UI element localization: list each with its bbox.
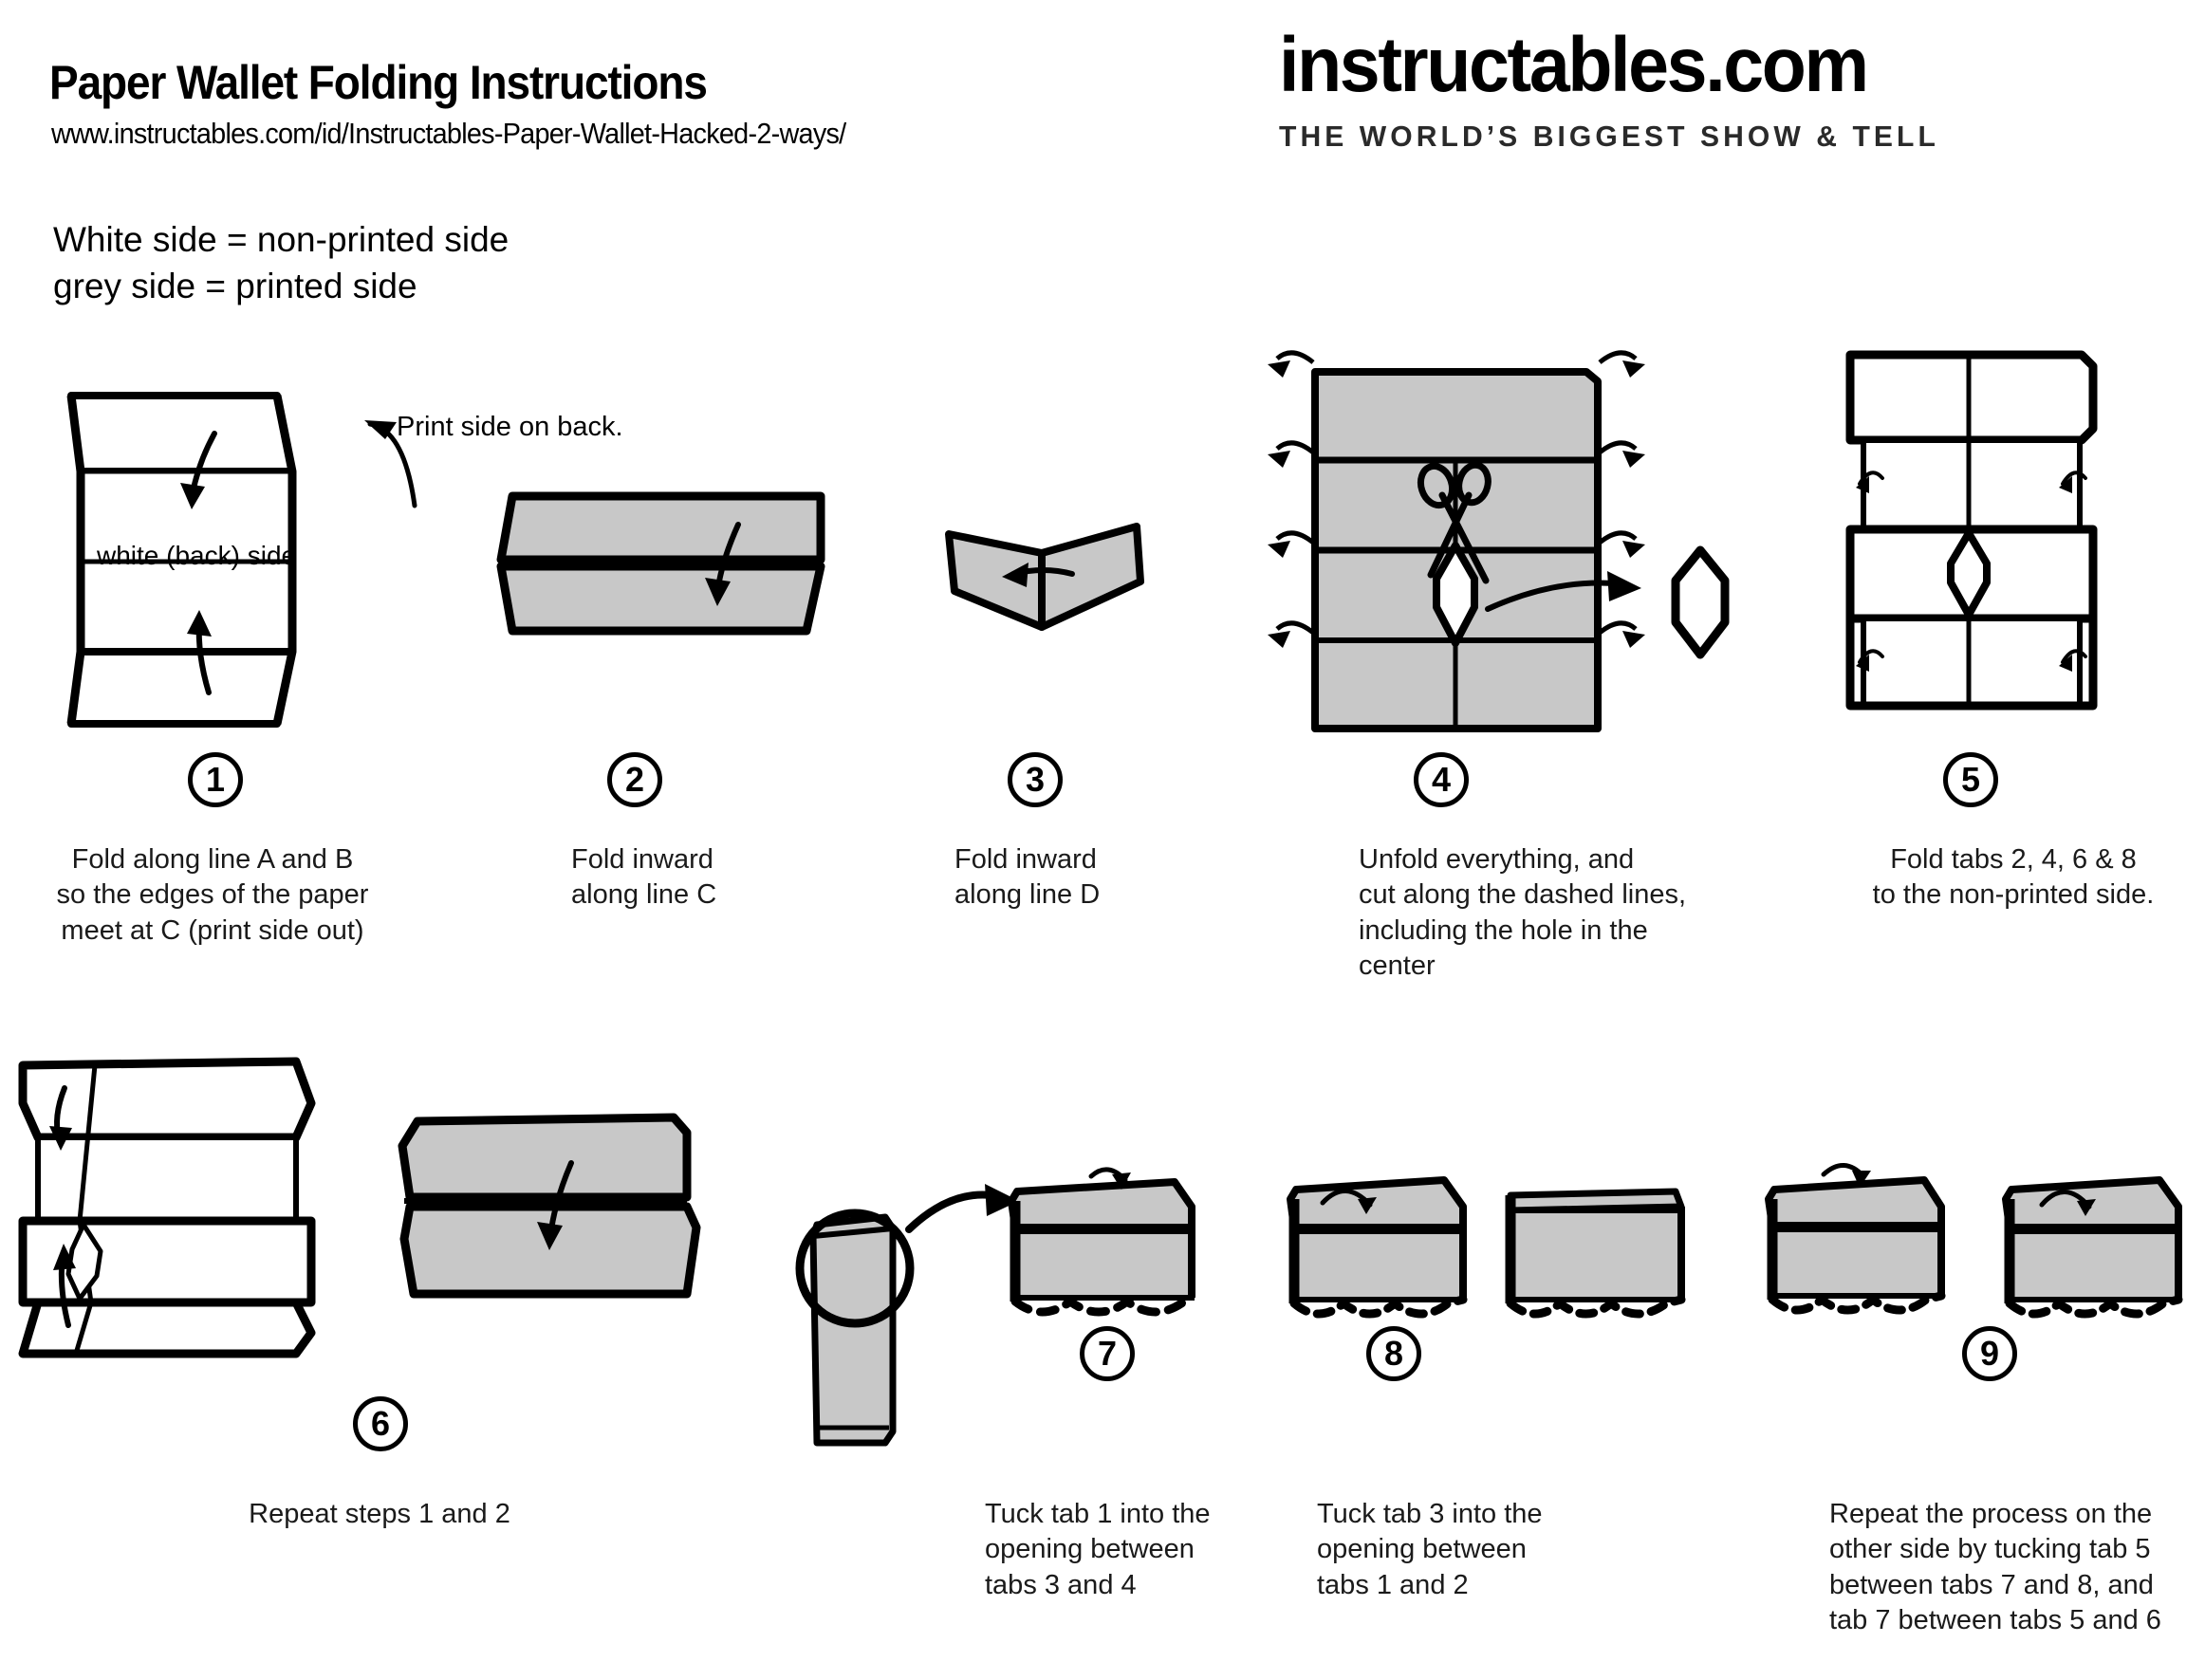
step-8-figure-right [1499,1174,1698,1336]
legend-white-side: White side = non-printed side [53,216,509,263]
step-1-caption: Fold along line A and B so the edges of … [13,842,412,949]
step-2-figure [493,479,835,650]
step-7-number: 7 [1080,1326,1135,1381]
step-7-caption: Tuck tab 1 into the opening between tabs… [985,1497,1279,1603]
step-3-figure [939,508,1158,650]
step-8-figure-left [1283,1165,1482,1336]
source-url: www.instructables.com/id/Instructables-P… [51,117,845,151]
step-9-figure-right [1998,1165,2197,1336]
step-5-caption: Fold tabs 2, 4, 6 & 8 to the non-printed… [1831,842,2196,914]
step-2-caption: Fold inward along line C [571,842,875,914]
step-1-number: 1 [188,752,243,807]
step-6-number: 6 [353,1396,408,1451]
step-4-caption: Unfold everything, and cut along the das… [1359,842,1757,985]
step-5-number: 5 [1943,752,1998,807]
step-3-caption: Fold inward along line D [954,842,1268,914]
legend-grey-side: grey side = printed side [53,263,509,309]
brand-tagline: THE WORLD’S BIGGEST SHOW & TELL [1279,120,1939,154]
print-side-on-back-text: Print side on back. [397,412,623,443]
step-8-caption: Tuck tab 3 into the opening between tabs… [1317,1497,1611,1603]
step-6-caption: Repeat steps 1 and 2 [199,1497,560,1532]
step-4-number: 4 [1414,752,1469,807]
page-title: Paper Wallet Folding Instructions [49,55,707,110]
legend: White side = non-printed side grey side … [53,216,509,309]
step-3-number: 3 [1008,752,1063,807]
step-2-number: 2 [607,752,662,807]
step-9-number: 9 [1962,1326,2017,1381]
white-back-side-label: white (back) side [97,541,296,571]
step-6-figure-left [9,1048,342,1361]
step-8-number: 8 [1366,1326,1421,1381]
instruction-sheet: Paper Wallet Folding Instructions www.in… [0,0,2205,1680]
step-9-figure-left [1761,1159,1960,1330]
step-6-figure-right [397,1108,710,1336]
step-4-figure [1254,323,1767,749]
instructables-logo: instructables.com THE WORLD’S BIGGEST SH… [1279,27,1959,154]
step-5-figure [1843,343,2156,742]
step-1-figure: white (back) side [28,384,408,735]
step-7-figure-detail [1004,1159,1213,1330]
brand-name: instructables.com [1279,27,1918,104]
step-9-caption: Repeat the process on the other side by … [1829,1497,2205,1639]
